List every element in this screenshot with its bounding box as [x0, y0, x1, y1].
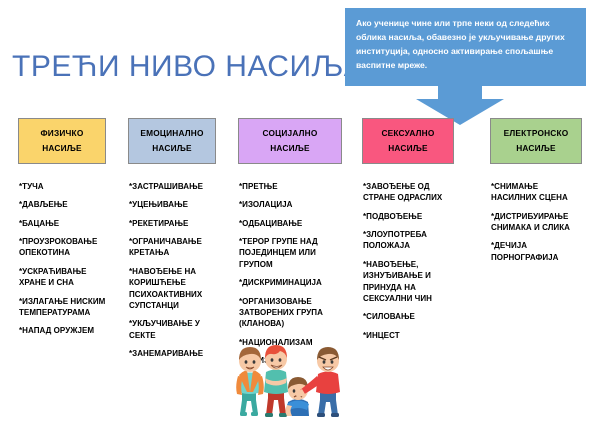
- category-header-line2: НАСИЉЕ: [42, 141, 82, 156]
- category-item-list: *СНИМАЊЕ НАСИЛНИХ СЦЕНА *ДИСТРИБУИРАЊЕ С…: [490, 181, 582, 263]
- list-item: *ДИСКРИМИНАЦИЈА: [239, 277, 351, 288]
- list-item: *ОРГАНИЗОВАЊЕ ЗАТВОРЕНИХ ГРУПА (КЛАНОВА): [239, 296, 351, 330]
- list-item: *БАЦАЊЕ: [19, 218, 106, 229]
- list-item: *НАПАД ОРУЖЈЕМ: [19, 325, 106, 336]
- category-column-fizicko: ФИЗИЧКО НАСИЉЕ *ТУЧА *ДАВЉЕЊЕ *БАЦАЊЕ *П…: [18, 118, 106, 344]
- list-item: *ДАВЉЕЊЕ: [19, 199, 106, 210]
- list-item: *ДИСТРИБУИРАЊЕ СНИМАКА И СЛИКА: [491, 211, 582, 234]
- bullying-children-illustration: [228, 342, 348, 422]
- category-column-socijalno: СОЦИЈАЛНО НАСИЉЕ *ПРЕТЊЕ *ИЗОЛАЦИЈА *ОДБ…: [238, 118, 342, 373]
- list-item: *НАВОЂЕЊЕ, ИЗНУЂИВАЊЕ И ПРИНУДА НА СЕКСУ…: [363, 259, 455, 304]
- list-item: *ДЕЧИЈА ПОРНОГРАФИЈА: [491, 240, 582, 263]
- info-callout-box: Ако ученице чине или трпе неки од следећ…: [345, 8, 586, 86]
- list-item: *ИЗЛАГАЊЕ НИСКИМ ТЕМПЕРАТУРАМА: [19, 296, 106, 319]
- category-column-emocinalno: ЕМОЦИНАЛНО НАСИЉЕ *ЗАСТРАШИВАЊЕ *УЦЕЊИВА…: [128, 118, 216, 366]
- list-item: *ЗЛОУПОТРЕБА ПОЛОЖАЈА: [363, 229, 455, 252]
- list-item: *СНИМАЊЕ НАСИЛНИХ СЦЕНА: [491, 181, 582, 204]
- list-item: *РЕКЕТИРАЊЕ: [129, 218, 216, 229]
- category-header-seksualno: СЕКСУАЛНО НАСИЉЕ: [362, 118, 454, 164]
- category-header-elektronsko: ЕЛЕКТРОНСКО НАСИЉЕ: [490, 118, 582, 164]
- list-item: *НАВОЂЕЊЕ НА КОРИШЋЕЊЕ ПСИХОАКТИВНИХ СУП…: [129, 266, 216, 311]
- category-header-line2: НАСИЉЕ: [388, 141, 428, 156]
- category-header-line1: ФИЗИЧКО: [41, 126, 84, 141]
- category-header-fizicko: ФИЗИЧКО НАСИЉЕ: [18, 118, 106, 164]
- category-item-list: *ТУЧА *ДАВЉЕЊЕ *БАЦАЊЕ *ПРОУЗРОКОВАЊЕ ОП…: [18, 181, 106, 337]
- list-item: *ПОДВОЂЕЊЕ: [363, 211, 455, 222]
- list-item: *УЦЕЊИВАЊЕ: [129, 199, 216, 210]
- list-item: *ПРОУЗРОКОВАЊЕ ОПЕКОТИНА: [19, 236, 106, 259]
- page-title: ТРЕЋИ НИВО НАСИЉА: [12, 50, 364, 84]
- list-item: *СИЛОВАЊЕ: [363, 311, 455, 322]
- list-item: *ТУЧА: [19, 181, 106, 192]
- category-column-seksualno: СЕКСУАЛНО НАСИЉЕ *ЗАВОЂЕЊЕ ОД СТРАНЕ ОДР…: [362, 118, 454, 348]
- category-header-line2: НАСИЉЕ: [516, 141, 556, 156]
- category-item-list: *ЗАВОЂЕЊЕ ОД СТРАНЕ ОДРАСЛИХ *ПОДВОЂЕЊЕ …: [362, 181, 455, 341]
- category-header-line2: НАСИЉЕ: [270, 141, 310, 156]
- category-header-line2: НАСИЉЕ: [152, 141, 192, 156]
- category-item-list: *ПРЕТЊЕ *ИЗОЛАЦИЈА *ОДБАЦИВАЊЕ *ТЕРОР ГР…: [238, 181, 351, 366]
- category-column-elektronsko: ЕЛЕКТРОНСКО НАСИЉЕ *СНИМАЊЕ НАСИЛНИХ СЦЕ…: [490, 118, 582, 270]
- category-item-list: *ЗАСТРАШИВАЊЕ *УЦЕЊИВАЊЕ *РЕКЕТИРАЊЕ *ОГ…: [128, 181, 216, 359]
- category-header-line1: СЕКСУАЛНО: [381, 126, 434, 141]
- list-item: *ИЗОЛАЦИЈА: [239, 199, 351, 210]
- list-item: *ЗАНЕМАРИВАЊЕ: [129, 348, 216, 359]
- list-item: *ЗАВОЂЕЊЕ ОД СТРАНЕ ОДРАСЛИХ: [363, 181, 455, 204]
- list-item: *ОГРАНИЧАВАЊЕ КРЕТАЊА: [129, 236, 216, 259]
- category-header-line1: СОЦИЈАЛНО: [262, 126, 317, 141]
- list-item: *ТЕРОР ГРУПЕ НАД ПОЈЕДИНЦЕМ ИЛИ ГРУПОМ: [239, 236, 351, 270]
- category-header-emocinalno: ЕМОЦИНАЛНО НАСИЉЕ: [128, 118, 216, 164]
- list-item: *ОДБАЦИВАЊЕ: [239, 218, 351, 229]
- info-callout-text: Ако ученице чине или трпе неки од следећ…: [356, 17, 575, 73]
- child-figure-orange: [236, 347, 264, 416]
- child-figure-redhair: [264, 345, 288, 417]
- list-item: *ИНЦЕСТ: [363, 330, 455, 341]
- category-header-socijalno: СОЦИЈАЛНО НАСИЉЕ: [238, 118, 342, 164]
- list-item: *УКЉУЧИВАЊЕ У СЕКТЕ: [129, 318, 216, 341]
- list-item: *ЗАСТРАШИВАЊЕ: [129, 181, 216, 192]
- category-header-line1: ЕМОЦИНАЛНО: [140, 126, 203, 141]
- list-item: *ПРЕТЊЕ: [239, 181, 351, 192]
- category-header-line1: ЕЛЕКТРОНСКО: [504, 126, 569, 141]
- list-item: *УСКРАЋИВАЊЕ ХРАНЕ И СНА: [19, 266, 106, 289]
